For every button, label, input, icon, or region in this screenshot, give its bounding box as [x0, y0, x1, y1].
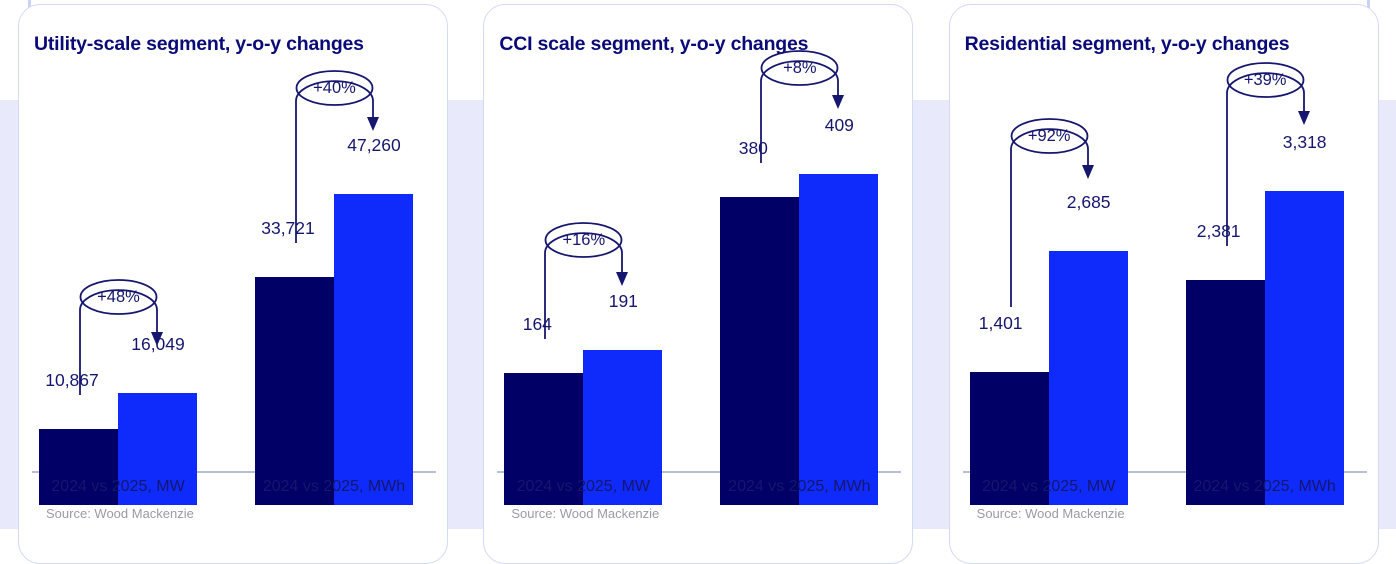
- bar-value-curr-mwh: 3,318: [1257, 132, 1353, 153]
- bar-value-prev-mw: 1,401: [953, 313, 1049, 334]
- panel-card: CCI scale segment, y-o-y changes 164 191…: [483, 4, 913, 564]
- chart-panel-utility-scale: Utility-scale segment, y-o-y changes 10,…: [0, 0, 465, 529]
- plot-area: 164 191 380 409: [484, 5, 913, 505]
- group-label-mw: 2024 vs 2025, MW: [484, 478, 682, 496]
- panel-card: Utility-scale segment, y-o-y changes 10,…: [18, 4, 448, 564]
- chart-panel-residential: Residential segment, y-o-y changes 1,401…: [931, 0, 1396, 529]
- group-label-mw: 2024 vs 2025, MW: [950, 478, 1148, 496]
- source-note: Source: Wood Mackenzie: [46, 506, 194, 521]
- bar-value-curr-mw: 191: [575, 291, 671, 312]
- callout-change-mwh: +8%: [761, 59, 838, 78]
- bar-value-prev-mwh: 33,721: [240, 218, 336, 239]
- bar-value-curr-mw: 2,685: [1041, 192, 1137, 213]
- bar-value-prev-mwh: 2,381: [1171, 221, 1267, 242]
- bar-prev-mwh[interactable]: [255, 277, 334, 505]
- group-label-mwh: 2024 vs 2025, MWh: [700, 478, 898, 496]
- callout-change-mw: +48%: [80, 288, 157, 307]
- bar-value-prev-mw: 164: [489, 314, 585, 335]
- bar-prev-mwh[interactable]: [720, 197, 799, 505]
- bar-value-curr-mwh: 409: [791, 115, 887, 136]
- bar-value-prev-mwh: 380: [705, 138, 801, 159]
- group-label-mwh: 2024 vs 2025, MWh: [235, 478, 433, 496]
- chart-panel-cci-scale: CCI scale segment, y-o-y changes 164 191…: [465, 0, 930, 529]
- bar-curr-mwh[interactable]: [334, 194, 413, 505]
- callout-change-mwh: +39%: [1227, 71, 1304, 90]
- bar-prev-mwh[interactable]: [1186, 280, 1265, 505]
- bar-value-prev-mw: 10,867: [24, 370, 120, 391]
- group-label-mwh: 2024 vs 2025, MWh: [1166, 478, 1364, 496]
- bar-value-curr-mwh: 47,260: [326, 135, 422, 156]
- plot-area: 1,401 2,685 2,381 3,318: [950, 5, 1379, 505]
- bar-value-curr-mw: 16,049: [110, 334, 206, 355]
- source-note: Source: Wood Mackenzie: [511, 506, 659, 521]
- callout-change-mwh: +40%: [296, 79, 373, 98]
- group-label-mw: 2024 vs 2025, MW: [19, 478, 217, 496]
- bar-curr-mwh[interactable]: [1265, 191, 1344, 505]
- panel-card: Residential segment, y-o-y changes 1,401…: [949, 4, 1379, 564]
- plot-area: 10,867 16,049 33,721 47,260: [19, 5, 448, 505]
- bar-curr-mwh[interactable]: [799, 174, 878, 505]
- bar-curr-mw[interactable]: [1049, 251, 1128, 505]
- source-note: Source: Wood Mackenzie: [977, 506, 1125, 521]
- chart-panels-container: Utility-scale segment, y-o-y changes 10,…: [0, 0, 1396, 529]
- callout-change-mw: +92%: [1011, 127, 1088, 146]
- callout-change-mw: +16%: [545, 231, 622, 250]
